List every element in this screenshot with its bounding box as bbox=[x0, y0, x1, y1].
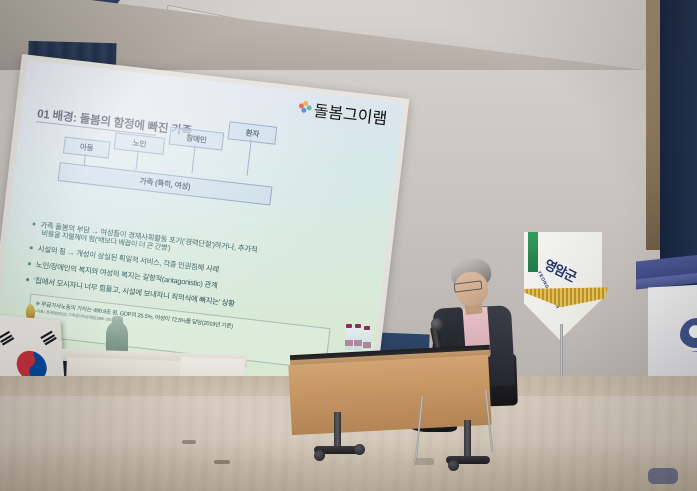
diagram-node-disabled: 장애인 bbox=[169, 127, 225, 151]
floor-mark bbox=[214, 460, 230, 464]
lecture-hall-photo: 돌봄그이램 01 배경: 돌봄의 함정에 빠진 가족 아동 노인 장애인 환자 … bbox=[0, 0, 697, 491]
table-caster bbox=[354, 444, 365, 455]
bottle-cap bbox=[355, 324, 361, 328]
diagram-connector bbox=[191, 145, 195, 173]
diagram-node-child: 아동 bbox=[63, 136, 111, 158]
table-front-panel bbox=[288, 355, 491, 435]
slide-diagram: 아동 노인 장애인 환자 가족 (특히, 여성) bbox=[41, 73, 372, 224]
floor-mark bbox=[182, 440, 196, 444]
water-bottle bbox=[354, 328, 362, 350]
trigram-icon bbox=[0, 331, 14, 346]
bottle-label bbox=[354, 340, 362, 346]
yeongam-korean-text: 영암군 bbox=[542, 254, 580, 285]
table-caster bbox=[448, 460, 459, 471]
trigram-icon bbox=[40, 331, 57, 346]
yeongam-flag-cloth: 영암군 YEONGAM-GUN bbox=[524, 232, 602, 340]
diagram-node-family: 가족 (특히, 여성) bbox=[58, 162, 273, 205]
diagram-node-patient: 환자 bbox=[228, 121, 278, 144]
table-caster bbox=[314, 450, 325, 461]
bottle-label bbox=[363, 342, 371, 348]
floor-mark bbox=[648, 468, 678, 484]
diagram-connector bbox=[135, 150, 138, 170]
presenter-table bbox=[290, 350, 490, 480]
bottle-label bbox=[345, 340, 353, 346]
water-bottle bbox=[345, 328, 353, 350]
water-bottle bbox=[363, 330, 371, 349]
bottle-cap bbox=[364, 326, 370, 330]
bottle-cap bbox=[346, 324, 352, 328]
diagram-connector bbox=[247, 140, 252, 176]
slide-bullet-list: 가족 돌봄의 부담 → 여성들이 경제사회활동 포기('경력단절')하거나, 추… bbox=[31, 219, 369, 258]
diagram-node-elderly: 노인 bbox=[114, 132, 166, 155]
